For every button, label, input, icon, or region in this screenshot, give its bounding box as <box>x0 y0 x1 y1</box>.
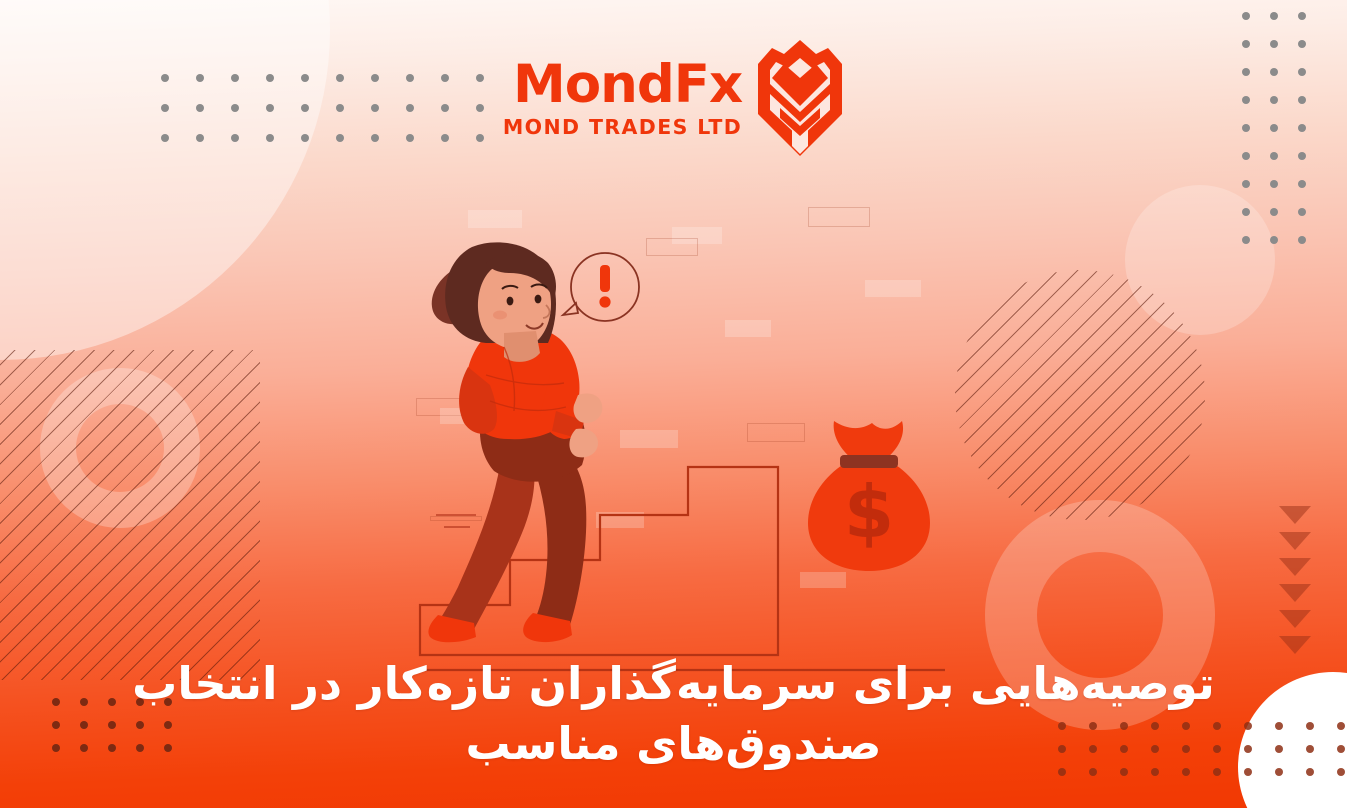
logo-name: MondFx <box>503 58 742 111</box>
dot <box>1270 12 1278 20</box>
dot <box>1275 722 1283 730</box>
hero-illustration: $ <box>400 215 1000 675</box>
dot <box>80 721 88 729</box>
dot <box>108 721 116 729</box>
dot <box>1270 180 1278 188</box>
page-title: توصیه‌هایی برای سرمایه‌گذاران تازه‌کار د… <box>124 654 1224 773</box>
decorative-ring-left <box>40 368 200 528</box>
triangle-down-icon <box>1279 506 1311 524</box>
dot <box>1298 236 1306 244</box>
dot <box>1242 12 1250 20</box>
dot <box>108 744 116 752</box>
dot <box>52 721 60 729</box>
dot <box>1337 745 1345 753</box>
dot <box>1275 745 1283 753</box>
brand-logo[interactable]: MondFx MOND TRADES LTD <box>0 38 1347 158</box>
dot <box>52 698 60 706</box>
money-bag: $ <box>808 421 930 571</box>
dot <box>1337 722 1345 730</box>
dot <box>1306 768 1314 776</box>
triangle-down-icon <box>1279 584 1311 602</box>
dot <box>1298 208 1306 216</box>
dot <box>1306 722 1314 730</box>
dot <box>1298 180 1306 188</box>
decorative-circle-right-top <box>1125 185 1275 335</box>
dot <box>1244 722 1252 730</box>
triangle-down-icon <box>1279 532 1311 550</box>
dot <box>1244 745 1252 753</box>
triangle-arrow-column <box>1279 506 1311 654</box>
dot <box>1270 236 1278 244</box>
mondfx-shield-chevron-icon <box>756 38 844 158</box>
headline-line-1: توصیه‌هایی برای سرمایه‌گذاران تازه‌کار د… <box>124 654 1224 713</box>
logo-wordmark: MondFx MOND TRADES LTD <box>503 58 742 138</box>
dot <box>1244 768 1252 776</box>
triangle-down-icon <box>1279 558 1311 576</box>
dot <box>1242 236 1250 244</box>
dot <box>52 744 60 752</box>
headline-line-2: صندوق‌های مناسب <box>124 714 1224 773</box>
promo-banner: $ <box>0 0 1347 808</box>
diagonal-hatch-left <box>0 350 260 680</box>
triangle-down-icon <box>1279 636 1311 654</box>
dot <box>1306 745 1314 753</box>
dot <box>1242 180 1250 188</box>
speech-bubble-exclamation <box>563 253 639 321</box>
dot <box>80 744 88 752</box>
svg-text:$: $ <box>844 470 894 554</box>
dot <box>1270 208 1278 216</box>
decorative-circle-bottom-right <box>1238 672 1347 808</box>
triangle-down-icon <box>1279 610 1311 628</box>
dot <box>80 698 88 706</box>
dot <box>108 698 116 706</box>
logo-tagline: MOND TRADES LTD <box>503 117 742 138</box>
dot <box>1298 12 1306 20</box>
dot <box>1337 768 1345 776</box>
dot <box>1242 208 1250 216</box>
dot <box>1275 768 1283 776</box>
